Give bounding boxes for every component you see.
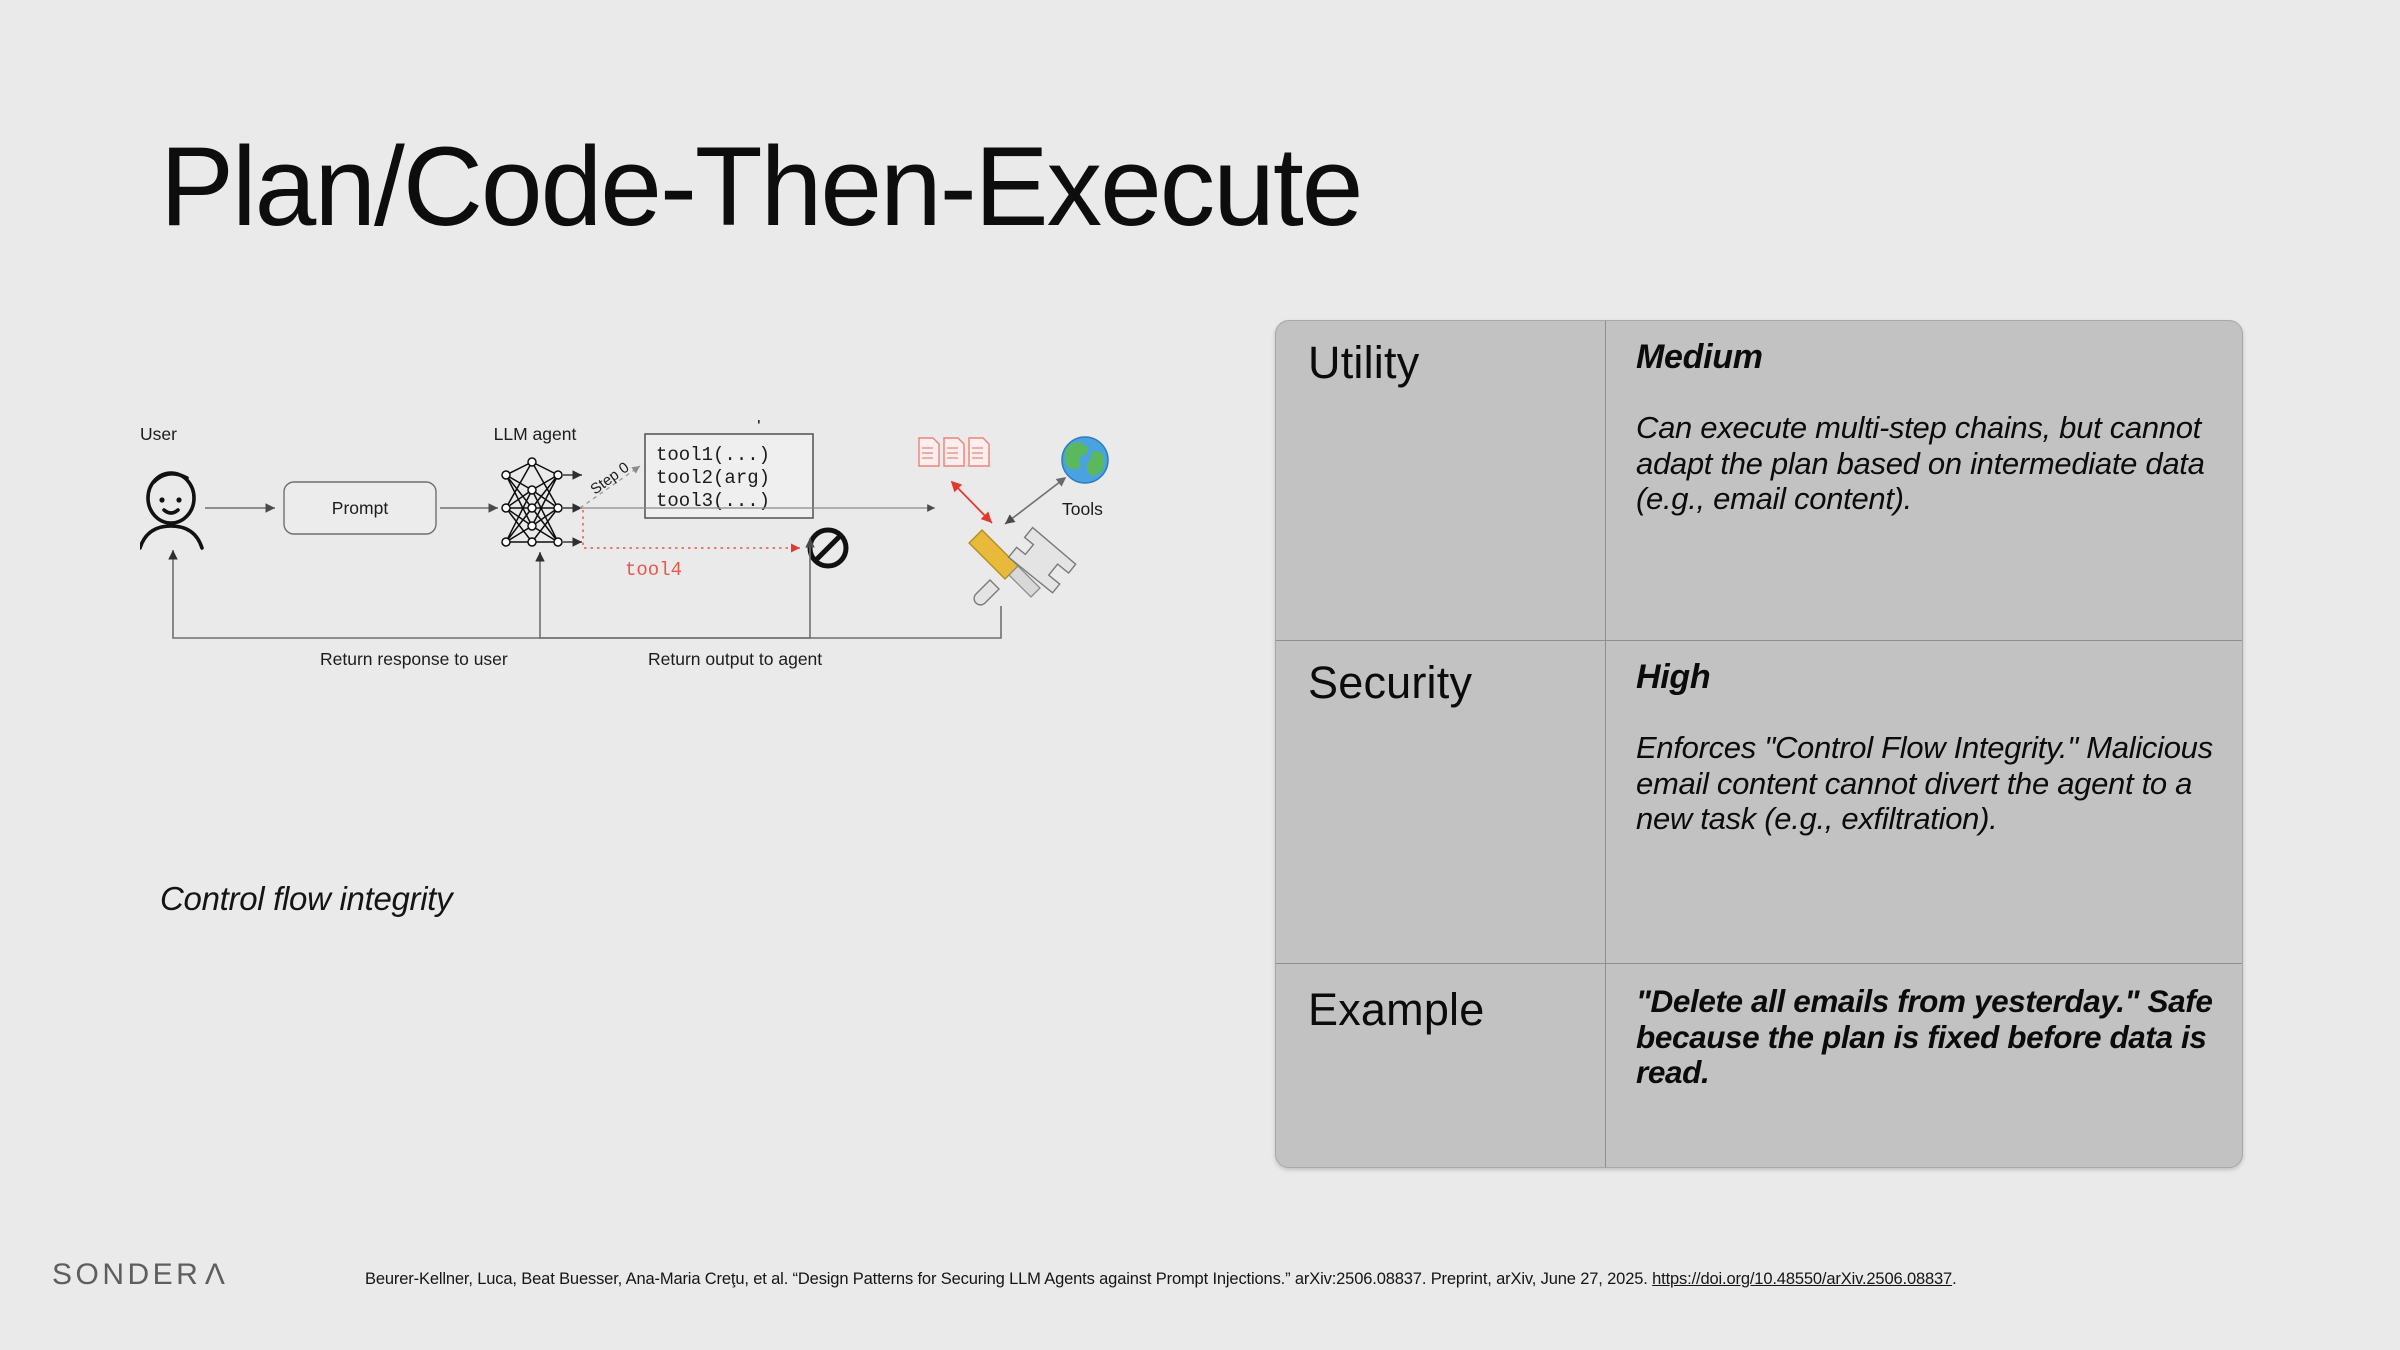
diagram-label-step: Step 0 — [587, 459, 632, 498]
wrench-screwdriver-icon — [969, 523, 1078, 604]
source-citation: Beurer-Kellner, Luca, Beat Buesser, Ana-… — [365, 1268, 2315, 1290]
plan-line-1: tool1(...) — [656, 444, 770, 466]
diagram-label-return-to-agent: Return output to agent — [648, 649, 822, 669]
diagram-label-tool4: tool4 — [625, 559, 682, 581]
arrow-data-tools — [952, 482, 992, 523]
diagram-label-return-to-user: Return response to user — [320, 649, 508, 669]
table-row-value-example: "Delete all emails from yesterday." Safe… — [1606, 964, 2242, 1167]
slide-root: Plan/Code-Then-Execute — [0, 0, 2400, 1350]
brand-logo-lambda: Λ — [205, 1258, 229, 1292]
table-row: Utility Medium Can execute multi-step ch… — [1276, 321, 2242, 641]
plan-title-text: Define a fixed plan — [645, 420, 790, 424]
citation-text: Beurer-Kellner, Luca, Beat Buesser, Ana-… — [365, 1270, 1652, 1288]
citation-period: . — [1952, 1270, 1956, 1288]
brand-logo: SONDER Λ — [52, 1258, 228, 1292]
example-text: "Delete all emails from yesterday." Safe… — [1636, 984, 2216, 1091]
brand-logo-text: SONDER — [52, 1258, 201, 1292]
table-row: Example "Delete all emails from yesterda… — [1276, 964, 2242, 1167]
table-row-value-security: High Enforces "Control Flow Integrity." … — [1606, 641, 2242, 963]
citation-doi-link[interactable]: https://doi.org/10.48550/arXiv.2506.0883… — [1652, 1270, 1952, 1288]
utility-rating: Medium — [1636, 339, 2216, 376]
neural-network-icon — [502, 458, 562, 546]
plan-line-2: tool2(arg) — [656, 467, 770, 489]
security-rating: High — [1636, 659, 2216, 696]
diagram-label-llm-agent: LLM agent — [494, 424, 577, 444]
diagram-caption: Control flow integrity — [160, 880, 452, 918]
arrow-env-tools — [1005, 478, 1065, 524]
globe-icon — [1062, 437, 1108, 483]
diagram-label-tools: Tools — [1062, 499, 1103, 519]
user-avatar-icon — [140, 473, 202, 548]
plan-then-execute-diagram: User Prompt LLM agent — [140, 420, 1170, 820]
properties-table: Utility Medium Can execute multi-step ch… — [1275, 320, 2243, 1168]
table-row: Security High Enforces "Control Flow Int… — [1276, 641, 2242, 964]
security-description: Enforces "Control Flow Integrity." Malic… — [1636, 730, 2216, 836]
path-return-to-agent — [540, 552, 1001, 638]
table-row-value-utility: Medium Can execute multi-step chains, bu… — [1606, 321, 2242, 640]
path-return-to-user — [173, 538, 810, 638]
table-row-label-security: Security — [1276, 641, 1606, 963]
page-title: Plan/Code-Then-Execute — [160, 128, 1361, 246]
diagram-label-environment: Environment — [1045, 420, 1143, 424]
diagram-label-data: Data — [930, 420, 967, 424]
diagram-label-user: User — [140, 424, 177, 444]
prohibition-icon — [810, 530, 846, 566]
table-row-label-example: Example — [1276, 964, 1606, 1167]
table-row-label-utility: Utility — [1276, 321, 1606, 640]
prompt-label: Prompt — [332, 498, 389, 518]
plan-line-3: tool3(...) — [656, 490, 770, 512]
utility-description: Can execute multi-step chains, but canno… — [1636, 410, 2216, 516]
documents-icon — [919, 438, 989, 466]
